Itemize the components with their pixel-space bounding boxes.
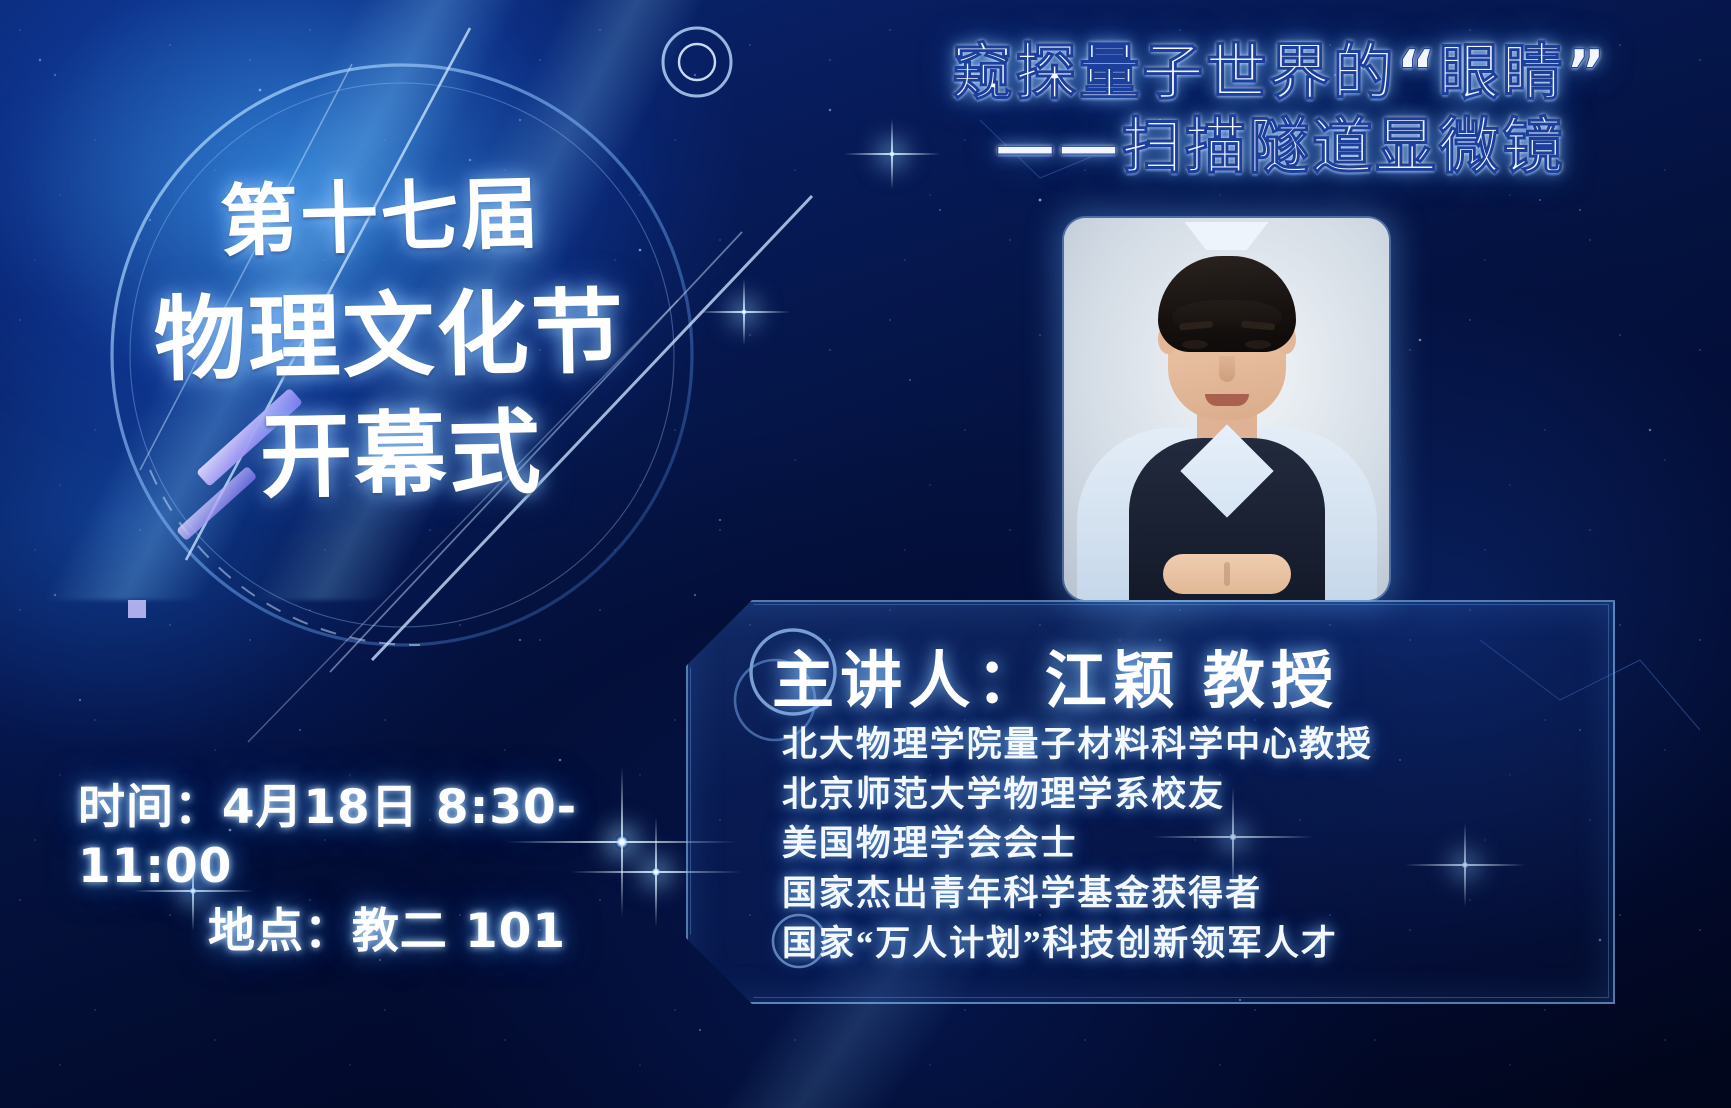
lecture-title-line2: ——扫描隧道显微镜 — [860, 110, 1700, 184]
poster-canvas: 窥探量子世界的“眼睛” ——扫描隧道显微镜 第十七届 物理文化节 开幕式 时间：… — [0, 0, 1731, 1108]
portrait-eye-left — [1182, 340, 1208, 349]
event-title-line1: 第十七届 — [127, 170, 749, 264]
portrait-mouth — [1205, 394, 1249, 406]
speaker-bio-list: 北大物理学院量子材料科学中心教授 北京师范大学物理学系校友 美国物理学会会士 国… — [782, 720, 1482, 968]
event-time: 时间：4月18日 8:30-11:00 — [78, 778, 678, 896]
portrait-nose — [1219, 356, 1235, 382]
speaker-bio-item: 国家“万人计划”科技创新领军人才 — [782, 919, 1482, 969]
event-title-line2: 物理文化节 — [127, 277, 749, 396]
speaker-portrait — [1064, 218, 1389, 600]
event-title: 第十七届 物理文化节 开幕式 — [128, 178, 748, 503]
lecture-title-line1: 窥探量子世界的“眼睛” — [860, 36, 1700, 110]
portrait-hands — [1163, 554, 1291, 594]
event-place: 地点：教二 101 — [78, 902, 678, 961]
speaker-bio-item: 北大物理学院量子材料科学中心教授 — [782, 720, 1482, 770]
schedule-block: 时间：4月18日 8:30-11:00 地点：教二 101 — [78, 778, 678, 962]
speaker-name: 主讲人：江颖 教授 — [772, 630, 1542, 720]
speaker-bio-item: 美国物理学会会士 — [782, 819, 1482, 869]
speaker-bio-item: 北京师范大学物理学系校友 — [782, 770, 1482, 820]
portrait-eye-right — [1245, 340, 1271, 349]
event-title-line3: 开幕式 — [127, 401, 749, 508]
lecture-title: 窥探量子世界的“眼睛” ——扫描隧道显微镜 — [860, 36, 1700, 185]
speaker-bio-item: 国家杰出青年科学基金获得者 — [782, 869, 1482, 919]
portrait-vneck — [1180, 424, 1273, 517]
